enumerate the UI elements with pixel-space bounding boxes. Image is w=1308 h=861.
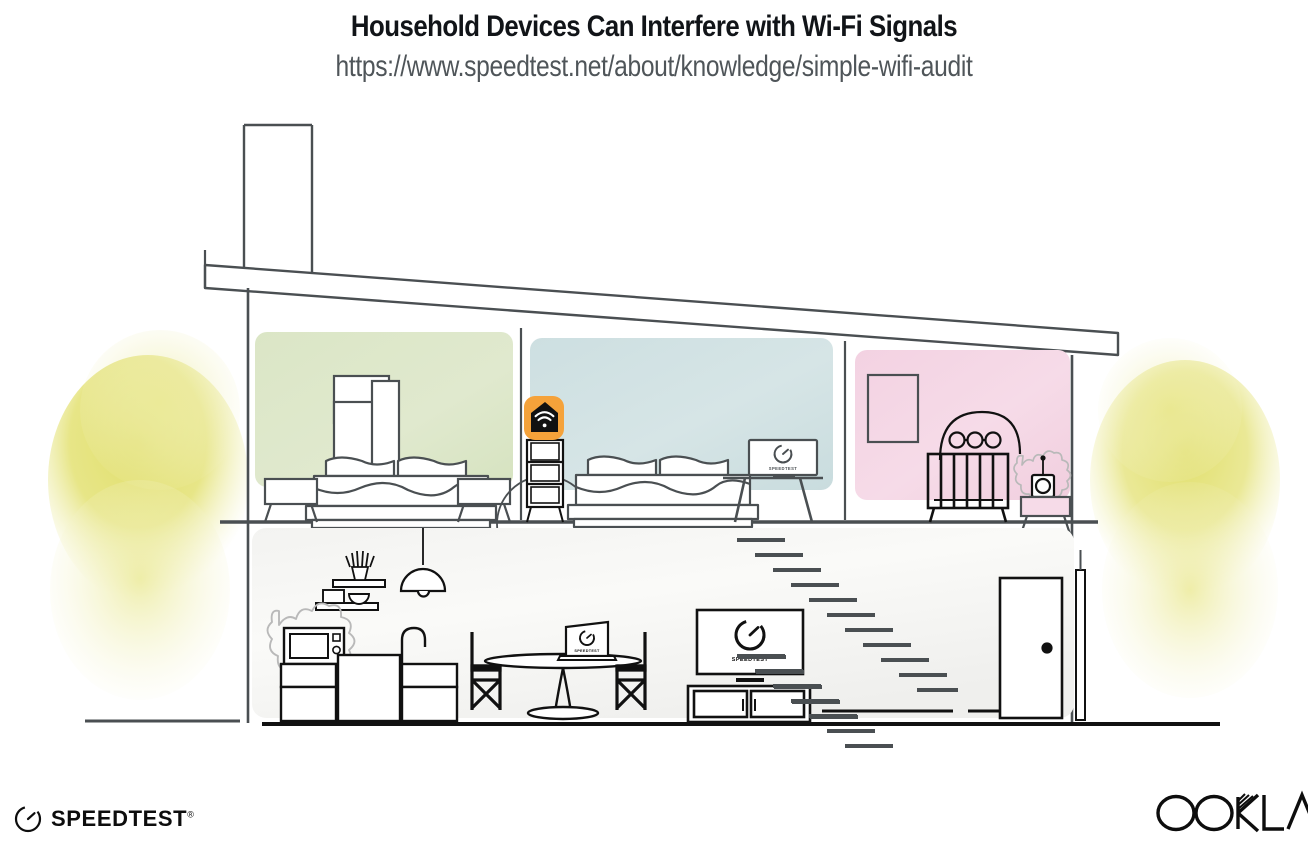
computer-monitor: SPEEDTEST — [749, 440, 817, 479]
ookla-wordmark-icon: ™ — [1152, 789, 1308, 835]
source-url: https://www.speedtest.net/about/knowledg… — [118, 44, 1191, 84]
side-window — [1076, 550, 1085, 720]
door-knob-icon[interactable] — [1041, 642, 1052, 653]
drawer-shelf — [527, 440, 563, 522]
monitor-screen-label: SPEEDTEST — [769, 466, 798, 471]
house-illustration: SPEEDTEST — [0, 110, 1308, 750]
ground-lines — [85, 721, 1220, 724]
house-cutaway-svg: SPEEDTEST — [0, 110, 1308, 750]
foliage-left — [48, 330, 248, 700]
chimney — [244, 125, 312, 285]
laptop: SPEEDTEST — [558, 622, 616, 660]
illustration-page: Household Devices Can Interfere with Wi-… — [0, 0, 1308, 861]
speedometer-icon — [14, 805, 42, 833]
microwave — [284, 628, 344, 664]
footer: SPEEDTEST® ™ — [0, 771, 1308, 861]
kitchen-counter — [281, 655, 457, 721]
speedtest-trademark: ® — [187, 810, 194, 820]
laptop-screen-label: SPEEDTEST — [574, 649, 600, 653]
front-door — [1000, 578, 1062, 718]
speedtest-wordmark: SPEEDTEST® — [51, 806, 194, 832]
header: Household Devices Can Interfere with Wi-… — [0, 0, 1308, 84]
speedtest-label: SPEEDTEST — [51, 806, 187, 831]
ookla-logo[interactable]: ™ — [1152, 789, 1308, 835]
foliage-right — [1090, 338, 1280, 698]
wifi-router-icon — [524, 396, 564, 440]
page-title: Household Devices Can Interfere with Wi-… — [92, 0, 1217, 44]
speedtest-logo[interactable]: SPEEDTEST® — [14, 805, 194, 833]
tv-cabinet — [688, 686, 810, 722]
